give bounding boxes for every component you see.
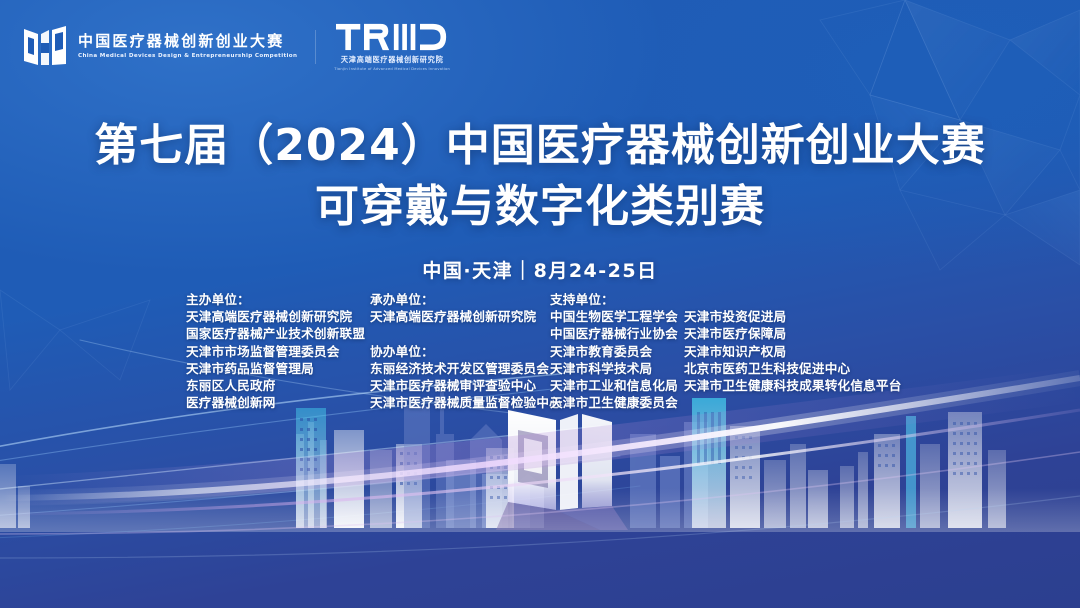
page-title-line2: 可穿戴与数字化类别赛 [0,179,1080,234]
group-heading: 承办单位： [370,291,550,308]
organizers-column-undertaker: 承办单位： 天津高端医疗器械创新研究院 协办单位： 东丽经济技术开发区管理委员会… [370,291,550,411]
org-item: 国家医疗器械产业技术创新联盟 [186,325,370,342]
org-item: 天津市知识产权局 [684,343,894,360]
org-item: 天津高端医疗器械创新研究院 [186,308,370,325]
glowing-open-door-emblem [496,410,628,530]
org-item: 天津市投资促进局 [684,308,894,325]
org-item: 天津市医疗器械审评查验中心 [370,377,550,394]
city-skyline-silhouette [0,378,1080,608]
org-item: 天津市医疗器械质量监督检验中心 [370,394,550,411]
group-spacer [370,325,550,342]
event-location-date: 中国·天津｜8月24-25日 [0,256,1080,283]
title-block: 第七届（2024）中国医疗器械创新创业大赛 可穿戴与数字化类别赛 中国·天津｜8… [0,118,1080,283]
supporters-sublist-right: 天津市投资促进局 天津市医疗保障局 天津市知识产权局 北京市医药卫生科技促进中心… [684,291,894,411]
group-spacer [684,291,894,308]
org-item: 天津市医疗保障局 [684,325,894,342]
org-item: 天津市卫生健康委员会 [550,394,684,411]
org-item: 天津市工业和信息化局 [550,377,684,394]
org-item: 北京市医药卫生科技促进中心 [684,360,894,377]
org-item: 中国生物医学工程学会 [550,308,684,325]
group-heading: 主办单位： [186,291,370,308]
supporters-sublist-left: 支持单位： 中国生物医学工程学会 中国医疗器械行业协会 天津市教育委员会 天津市… [550,291,684,411]
logo-divider [315,30,316,64]
org-item: 天津市市场监督管理委员会 [186,343,370,360]
event-poster: 中国医疗器械创新创业大赛 China Medical Devices Desig… [0,0,1080,608]
secondary-logo-en: Tianjin Institute of Advanced Medical De… [334,67,450,71]
org-item: 天津市卫生健康科技成果转化信息平台 [684,377,894,394]
organizers-column-host: 主办单位： 天津高端医疗器械创新研究院 国家医疗器械产业技术创新联盟 天津市市场… [186,291,370,411]
logo-bar: 中国医疗器械创新创业大赛 China Medical Devices Desig… [22,22,450,71]
org-item: 医疗器械创新网 [186,394,370,411]
org-item: 东丽区人民政府 [186,377,370,394]
page-title-line1: 第七届（2024）中国医疗器械创新创业大赛 [0,118,1080,173]
secondary-logo: 天津高端医疗器械创新研究院 Tianjin Institute of Advan… [334,22,450,71]
org-item: 东丽经济技术开发区管理委员会 [370,360,550,377]
org-item: 天津市科学技术局 [550,360,684,377]
group-heading: 协办单位： [370,343,550,360]
organizers-column-supporters: 支持单位： 中国生物医学工程学会 中国医疗器械行业协会 天津市教育委员会 天津市… [550,291,894,411]
primary-logo-en: China Medical Devices Design & Entrepren… [78,52,297,60]
primary-logo: 中国医疗器械创新创业大赛 China Medical Devices Desig… [22,25,297,69]
org-item: 天津市教育委员会 [550,343,684,360]
primary-logo-cn: 中国医疗器械创新创业大赛 [78,33,297,50]
organizers-block: 主办单位： 天津高端医疗器械创新研究院 国家医疗器械产业技术创新联盟 天津市市场… [186,291,894,411]
org-item: 天津高端医疗器械创新研究院 [370,308,550,325]
trmd-wordmark-icon [336,22,448,52]
org-item: 天津市药品监督管理局 [186,360,370,377]
secondary-logo-cn: 天津高端医疗器械创新研究院 [341,55,444,65]
group-heading: 支持单位： [550,291,684,308]
org-item: 中国医疗器械行业协会 [550,325,684,342]
open-door-window-icon [22,25,68,69]
